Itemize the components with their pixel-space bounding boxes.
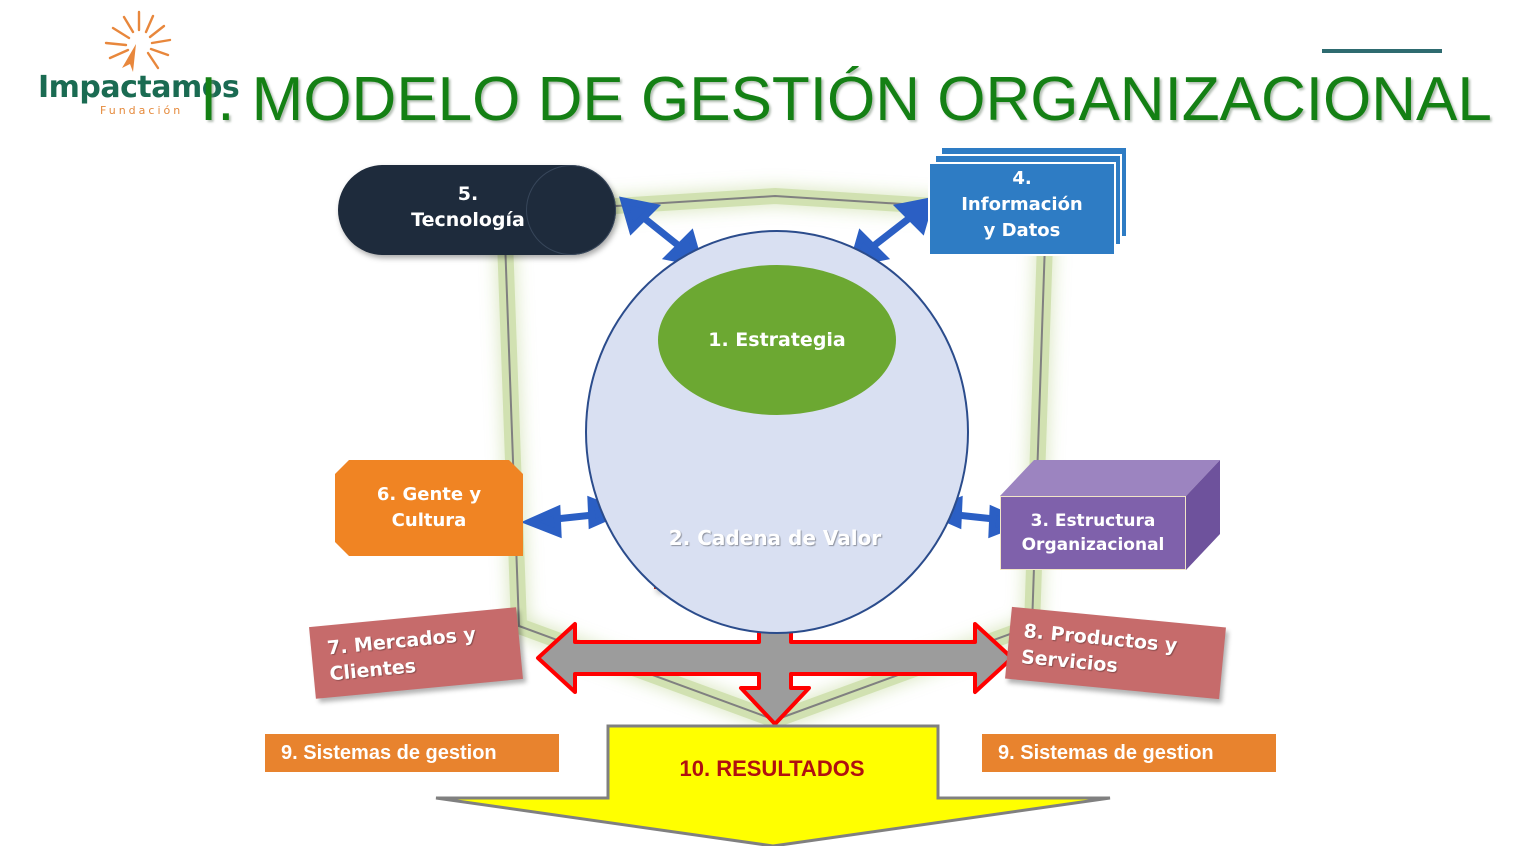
- cube-top-face: [1000, 460, 1220, 496]
- value-chain-label: 2. Cadena de Valor: [650, 488, 900, 588]
- value-chain-block[interactable]: 2. Cadena de Valor: [650, 488, 930, 588]
- flow-mercados-clientes[interactable]: 7. Mercados y Clientes: [309, 607, 523, 699]
- strategy-ellipse[interactable]: 1. Estrategia: [658, 265, 896, 415]
- header-accent-rule: [1322, 49, 1442, 53]
- page-title: I. MODELO DE GESTIÓN ORGANIZACIONAL: [200, 64, 1460, 136]
- pillar-estructura-line1: 3. Estructura: [1031, 511, 1156, 531]
- slide-canvas: Impactamos Fundación I. MODELO DE GESTIÓ…: [0, 0, 1519, 846]
- pillar-gente-cultura-label: 6. Gente y Cultura: [377, 482, 481, 534]
- pillar-gente-cultura[interactable]: 6. Gente y Cultura: [335, 460, 523, 556]
- flow-mercados-label: 7. Mercados y Clientes: [326, 621, 480, 687]
- pillar-tecnologia-label: 5. Tecnología: [378, 181, 558, 233]
- flow-mercados-line2: Clientes: [329, 655, 417, 685]
- brand-name: Impactamos: [38, 70, 220, 104]
- flow-productos-label: 8. Productos y Servicios: [1020, 618, 1179, 685]
- flow-mercados-line1: 7. Mercados y: [326, 623, 477, 659]
- pillar-gente-line1: 6. Gente y: [377, 484, 481, 505]
- pillar-informacion-line3: y Datos: [984, 220, 1061, 241]
- flow-productos-line2: Servicios: [1020, 646, 1119, 677]
- pillar-tecnologia-line1: 5.: [458, 183, 478, 205]
- pillar-gente-line2: Cultura: [392, 510, 467, 531]
- pillar-informacion-line1: 4.: [1012, 168, 1031, 189]
- pillar-informacion[interactable]: 4. Información y Datos: [928, 146, 1128, 256]
- pillar-informacion-line2: Información: [961, 194, 1083, 215]
- flow-productos-servicios[interactable]: 8. Productos y Servicios: [1005, 607, 1226, 699]
- pillar-tecnologia-line2: Tecnología: [411, 209, 525, 231]
- pillar-estructura[interactable]: 3. Estructura Organizacional: [1000, 460, 1220, 570]
- pillar-estructura-line2: Organizacional: [1022, 535, 1165, 555]
- pillar-informacion-label: 4. Información y Datos: [928, 166, 1116, 244]
- results-label: 10. RESULTADOS: [432, 756, 1112, 782]
- results-block[interactable]: 10. RESULTADOS: [432, 722, 1112, 846]
- brand-logo: Impactamos Fundación: [38, 8, 220, 126]
- pillar-estructura-label: 3. Estructura Organizacional: [1000, 496, 1186, 570]
- pillar-tecnologia[interactable]: 5. Tecnología: [338, 165, 616, 255]
